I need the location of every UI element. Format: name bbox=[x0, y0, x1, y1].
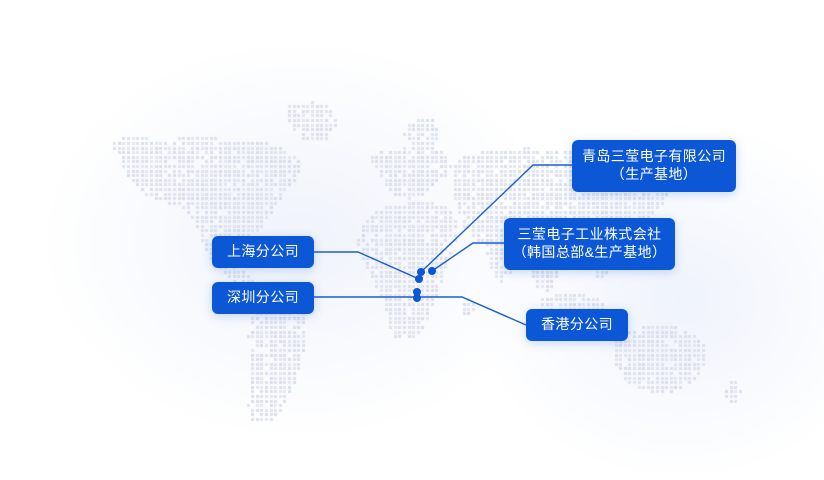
world-presence-map: 青岛三莹电子有限公司 （生产基地） 三莹电子工业株式会社 （韩国总部&生产基地）… bbox=[0, 0, 824, 480]
callout-shanghai-label: 上海分公司 bbox=[227, 243, 299, 261]
callout-shanghai-branch[interactable]: 上海分公司 bbox=[212, 236, 314, 268]
hongkong-marker[interactable] bbox=[413, 294, 421, 302]
callout-shenzhen-branch[interactable]: 深圳分公司 bbox=[212, 282, 314, 314]
shanghai-marker[interactable] bbox=[415, 275, 423, 283]
callout-qingdao-line-2: （生产基地） bbox=[611, 166, 697, 184]
callout-hongkong-branch[interactable]: 香港分公司 bbox=[526, 309, 628, 341]
callout-shenzhen-label: 深圳分公司 bbox=[227, 289, 299, 307]
line-hongkong bbox=[417, 297, 526, 325]
callout-qingdao-line-1: 青岛三莹电子有限公司 bbox=[582, 148, 726, 166]
callout-qingdao[interactable]: 青岛三莹电子有限公司 （生产基地） bbox=[572, 140, 736, 192]
callout-korea-line-2: （韩国总部&生产基地） bbox=[513, 244, 667, 262]
connector-lines-layer bbox=[0, 0, 824, 480]
callout-hongkong-label: 香港分公司 bbox=[541, 316, 613, 334]
line-shanghai bbox=[314, 252, 419, 279]
callout-korea-line-1: 三莹电子工业株式会社 bbox=[518, 226, 662, 244]
callout-korea-headquarters[interactable]: 三莹电子工业株式会社 （韩国总部&生产基地） bbox=[504, 218, 675, 270]
korea-marker[interactable] bbox=[428, 267, 436, 275]
line-korea bbox=[432, 243, 504, 271]
